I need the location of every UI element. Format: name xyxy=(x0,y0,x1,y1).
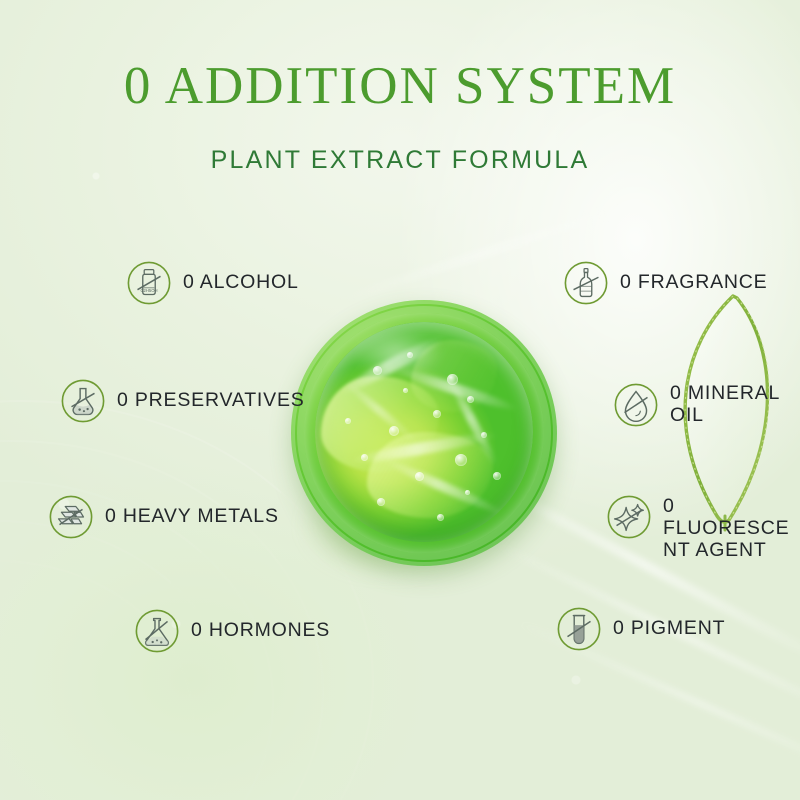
feature-label: 0 HORMONES xyxy=(191,620,330,642)
svg-text:C2H5OH: C2H5OH xyxy=(140,288,157,293)
no-metal-bars-icon xyxy=(48,494,94,540)
feature-no-mineral-oil: 0 MINERAL OIL xyxy=(613,382,800,428)
feature-label: 0 FLUORESCE NT AGENT xyxy=(663,496,800,561)
feature-no-preservatives: 0 PRESERVATIVES xyxy=(60,378,305,424)
feature-label: 0 FRAGRANCE xyxy=(620,272,768,294)
feature-no-hormones: 0 HORMONES xyxy=(134,608,330,654)
feature-label: 0 HEAVY METALS xyxy=(105,506,279,528)
page-title: 0 ADDITION SYSTEM xyxy=(0,60,800,113)
no-test-tube-icon xyxy=(556,606,602,652)
page-subtitle: PLANT EXTRACT FORMULA xyxy=(0,148,800,173)
jar-gloss xyxy=(331,318,461,388)
feature-label: 0 ALCOHOL xyxy=(183,272,299,294)
no-conical-flask-icon xyxy=(134,608,180,654)
feature-no-fluorescent-agent: 0 FLUORESCE NT AGENT xyxy=(606,494,800,561)
no-oil-droplet-icon xyxy=(613,382,659,428)
no-sparkle-icon xyxy=(606,494,652,540)
no-perfume-bottle-icon xyxy=(563,260,609,306)
no-flask-icon xyxy=(60,378,106,424)
feature-no-alcohol: C2H5OH 0 ALCOHOL xyxy=(126,260,299,306)
feature-no-heavy-metals: 0 HEAVY METALS xyxy=(48,494,279,540)
feature-label: 0 MINERAL OIL xyxy=(670,383,800,427)
no-alcohol-bottle-icon: C2H5OH xyxy=(126,260,172,306)
product-poster: 0 ADDITION SYSTEM PLANT EXTRACT FORMULA xyxy=(0,0,800,800)
product-jar xyxy=(291,300,557,566)
feature-label: 0 PIGMENT xyxy=(613,618,725,640)
feature-no-fragrance: 0 FRAGRANCE xyxy=(563,260,768,306)
feature-label: 0 PRESERVATIVES xyxy=(117,390,305,412)
feature-no-pigment: 0 PIGMENT xyxy=(556,606,725,652)
